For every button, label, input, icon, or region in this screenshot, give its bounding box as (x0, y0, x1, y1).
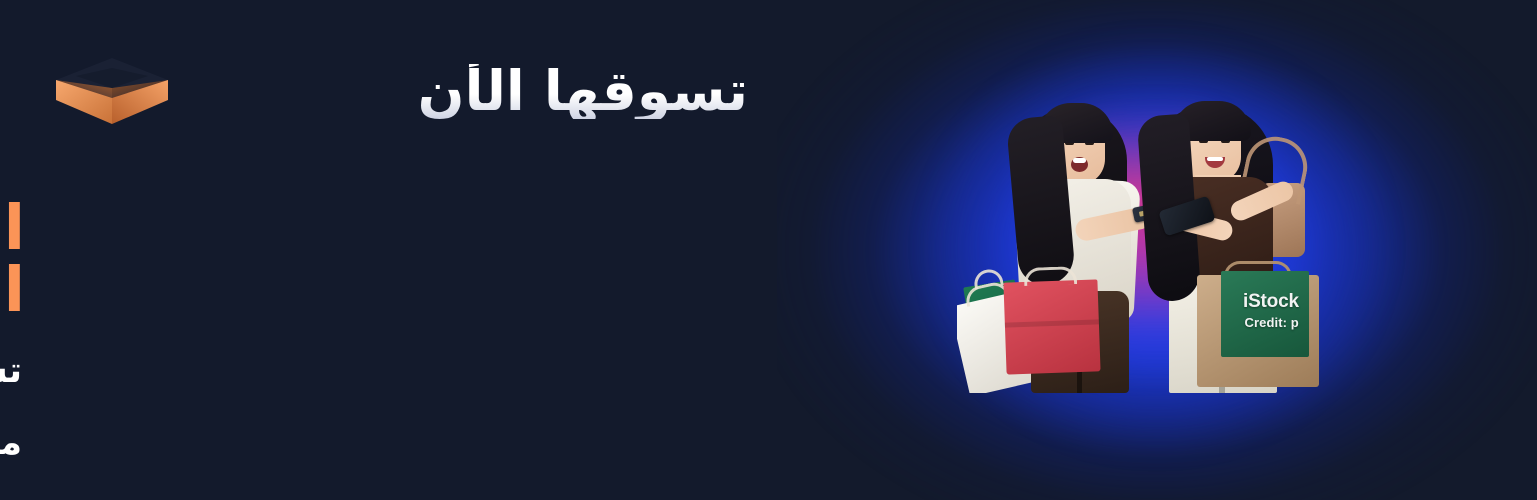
tagline-2: منتجات مختارة بعناية... لأجلك فقط 💛 (0, 422, 22, 464)
headline-line-2: الأفضل (0, 258, 25, 321)
mouth (1071, 157, 1088, 172)
brand-title: تسوقها الأن (418, 64, 748, 119)
tagline-2-text: منتجات مختارة بعناية... لأجلك فقط (0, 422, 22, 464)
banner-content: تسوقها الأن (0, 0, 860, 500)
shopper-figure-right: iStock Credit: p (1125, 95, 1335, 393)
istock-watermark-credit: Credit: p (1243, 315, 1299, 330)
istock-watermark-title: iStock (1243, 291, 1299, 312)
shoppers-photo: iStock Credit: p (957, 95, 1357, 393)
hero-artwork: iStock Credit: p (777, 0, 1537, 500)
istock-watermark: iStock Credit: p (1243, 291, 1299, 330)
box-logo-icon (48, 54, 176, 128)
promo-banner: iStock Credit: p تسوقها الأن (0, 0, 1537, 500)
tagline-1-text: تسوّق بثقة، وتميّز بذوقك (0, 350, 22, 392)
banner-header: تسوقها الأن (48, 54, 748, 128)
tagline-1: تسوّق بثقة، وتميّز بذوقك 👌 (0, 350, 22, 392)
shopping-bag-red (1003, 279, 1100, 374)
headline-line-1: ابدأ رحلتك مع (0, 196, 25, 259)
